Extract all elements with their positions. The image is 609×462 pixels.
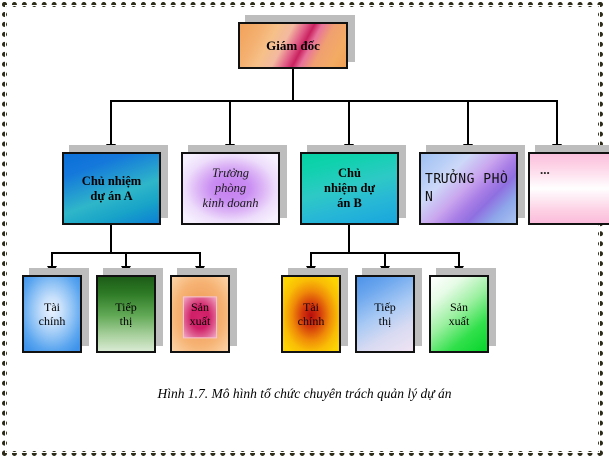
node-face: Chủ nhiệm dự án A bbox=[62, 152, 161, 225]
connector-drop-pmA bbox=[110, 100, 112, 144]
node-sales-department-head[interactable]: Trưởng phòng kinh doanh bbox=[181, 152, 280, 225]
node-marketing-a[interactable]: Tiếp thị bbox=[96, 275, 156, 353]
node-label: Sản xuất bbox=[190, 300, 211, 328]
node-project-manager-a[interactable]: Chủ nhiệm dự án A bbox=[62, 152, 161, 225]
connector-drop-deptX bbox=[467, 100, 469, 144]
node-director[interactable]: Giám đốc bbox=[238, 22, 348, 69]
node-face: Giám đốc bbox=[238, 22, 348, 69]
node-production-a[interactable]: Sản xuất bbox=[170, 275, 230, 353]
node-ellipsis-placeholder[interactable]: ... bbox=[528, 152, 609, 225]
node-face: Sản xuất bbox=[429, 275, 489, 353]
figure-canvas: Giám đốc Chủ nhiệm dự án A Trưởng phòng … bbox=[0, 0, 609, 462]
node-label: Tài chính bbox=[298, 300, 325, 328]
figure-caption: Hình 1.7. Mô hình tổ chức chuyên trách q… bbox=[0, 386, 609, 402]
connector-drop-pmB bbox=[348, 100, 350, 144]
node-label: ... bbox=[530, 154, 550, 177]
node-finance-a[interactable]: Tài chính bbox=[22, 275, 82, 353]
node-face: Tiếp thị bbox=[96, 275, 156, 353]
node-face: ... bbox=[528, 152, 609, 225]
connector-drop-mktB bbox=[384, 252, 386, 267]
node-production-b[interactable]: Sản xuất bbox=[429, 275, 489, 353]
connector-drop-more bbox=[556, 100, 558, 144]
node-face: Tài chính bbox=[22, 275, 82, 353]
node-face: Tài chính bbox=[281, 275, 341, 353]
node-face: Chủ nhiệm dự án B bbox=[300, 152, 399, 225]
connector-drop-prodA bbox=[199, 252, 201, 267]
node-marketing-b[interactable]: Tiếp thị bbox=[355, 275, 415, 353]
node-project-manager-b[interactable]: Chủ nhiệm dự án B bbox=[300, 152, 399, 225]
node-label: Tài chính bbox=[39, 300, 66, 328]
node-label: Tiếp thị bbox=[115, 300, 137, 328]
connector-drop-finB bbox=[310, 252, 312, 267]
node-label: Giám đốc bbox=[266, 38, 320, 53]
connector-director-stem bbox=[292, 69, 294, 101]
node-label: Tiếp thị bbox=[374, 300, 396, 328]
node-label: Trưởng phòng kinh doanh bbox=[203, 166, 259, 210]
node-label: Sản xuất bbox=[449, 300, 470, 328]
node-label: Chủ nhiệm dự án B bbox=[324, 166, 375, 210]
node-face: Tiếp thị bbox=[355, 275, 415, 353]
connector-drop-sales bbox=[229, 100, 231, 144]
node-face: TRƯỞNG PHÒN bbox=[419, 152, 518, 225]
node-label: TRƯỞNG PHÒN bbox=[421, 171, 516, 206]
node-face: Trưởng phòng kinh doanh bbox=[181, 152, 280, 225]
node-label: Chủ nhiệm dự án A bbox=[82, 174, 141, 204]
connector-drop-mktA bbox=[125, 252, 127, 267]
connector-drop-finA bbox=[51, 252, 53, 267]
connector-bus-level2 bbox=[110, 100, 558, 102]
connector-pmB-stem bbox=[348, 225, 350, 253]
connector-pmA-stem bbox=[110, 225, 112, 253]
node-finance-b[interactable]: Tài chính bbox=[281, 275, 341, 353]
connector-drop-prodB bbox=[458, 252, 460, 267]
node-department-head-other[interactable]: TRƯỞNG PHÒN bbox=[419, 152, 518, 225]
node-face: Sản xuất bbox=[170, 275, 230, 353]
